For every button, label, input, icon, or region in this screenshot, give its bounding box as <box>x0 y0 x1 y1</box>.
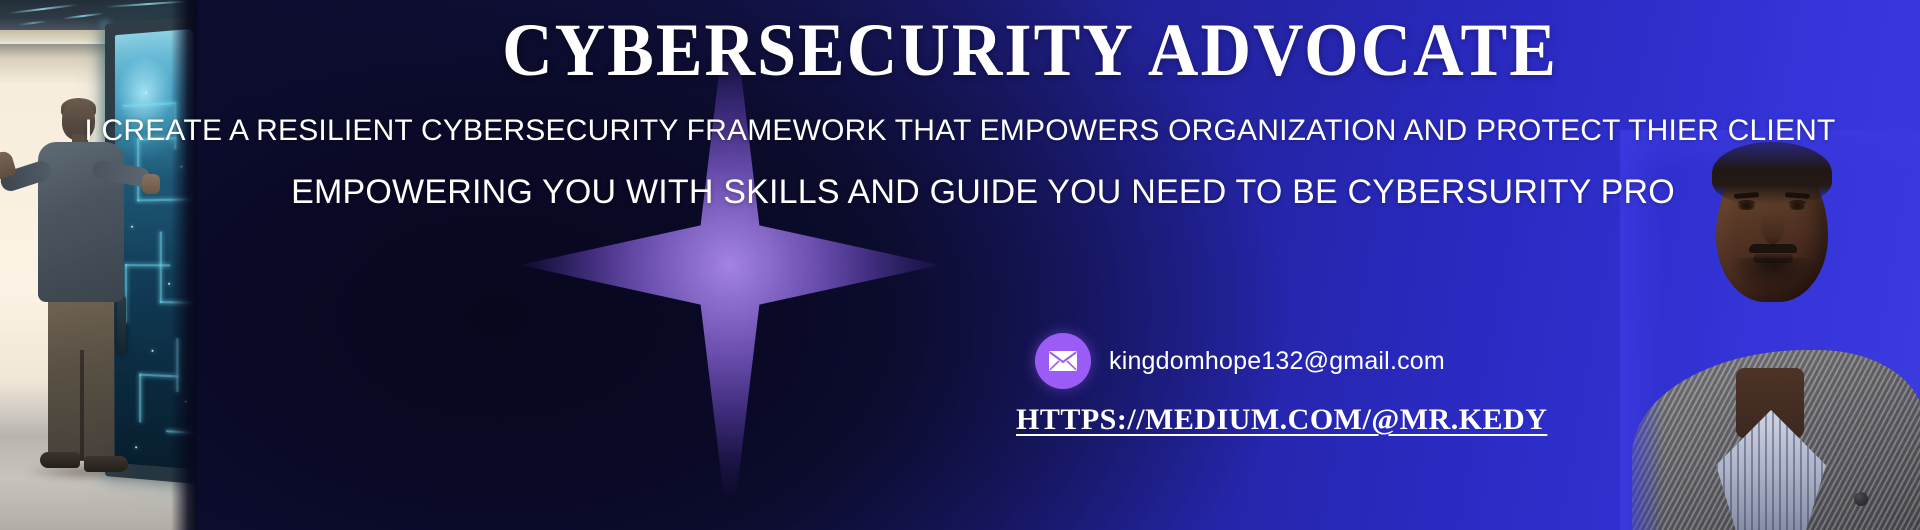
figure-shoe-right <box>84 456 128 472</box>
circuit-trace <box>139 374 141 423</box>
portrait-jacket-button <box>1854 492 1868 506</box>
portrait-moustache <box>1749 244 1797 253</box>
medium-profile-link[interactable]: HTTPS://MEDIUM.COM/@MR.KEDY <box>1016 403 1547 437</box>
email-contact-row[interactable]: kingdomhope132@gmail.com <box>1035 333 1445 389</box>
circuit-trace <box>160 232 162 304</box>
portrait-nose <box>1762 214 1784 244</box>
page-title: CYBERSECURITY ADVOCATE <box>0 8 1920 94</box>
tagline-primary: I CREATE A RESILIENT CYBERSECURITY FRAME… <box>0 114 1920 148</box>
figure-shoe-left <box>40 452 80 468</box>
figure-leg-split <box>80 350 84 460</box>
email-address[interactable]: kingdomhope132@gmail.com <box>1109 347 1445 376</box>
envelope-icon[interactable] <box>1035 333 1091 389</box>
cybersecurity-advocate-banner: CYBERSECURITY ADVOCATE I CREATE A RESILI… <box>0 0 1920 530</box>
circuit-spark <box>168 283 170 285</box>
tagline-secondary: EMPOWERING YOU WITH SKILLS AND GUIDE YOU… <box>0 173 1920 212</box>
man-figure <box>18 100 138 495</box>
circuit-spark <box>151 350 153 352</box>
portrait-beard <box>1732 258 1814 294</box>
